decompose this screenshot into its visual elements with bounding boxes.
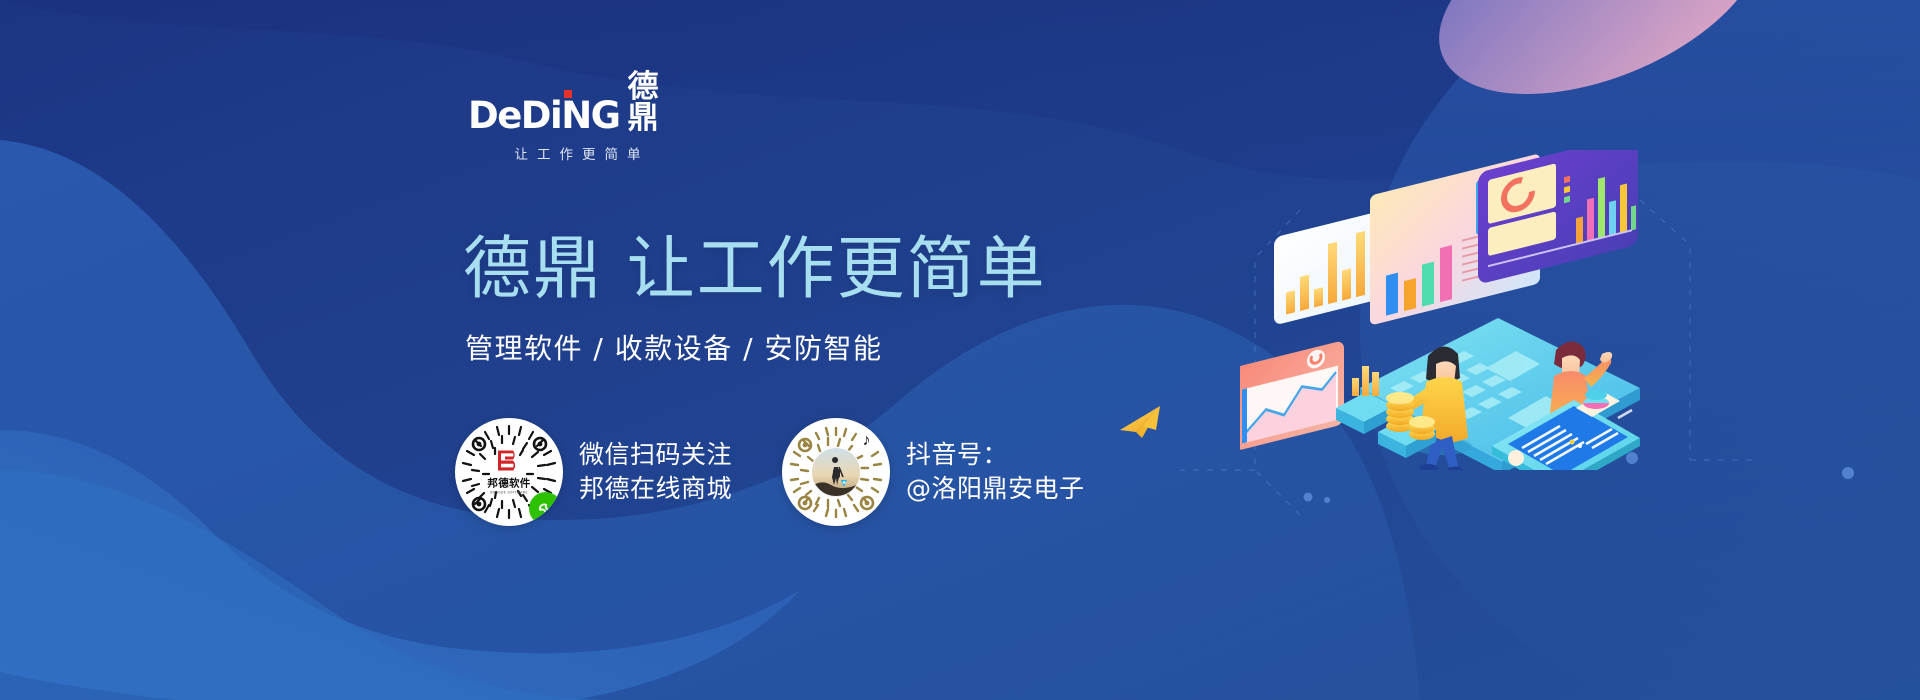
logo-tagline: 让工作更简单 [468,143,688,163]
isometric-analytics-illustration [1240,150,1660,470]
bangde-mark-icon [496,448,522,474]
logo-wordmark: DeDiNG 德鼎 [468,92,688,134]
avatar-photo [811,447,861,497]
paper-plane-icon [1116,400,1168,444]
music-note-icon: ♪ [855,429,878,452]
miniprogram-glyph [536,499,556,519]
douyin-avatar [811,447,861,497]
qr-code-group: 邦德软件 BANGDE SOFTWARE 微信扫码关注 邦德在线商城 [455,418,1085,526]
hero-subheadline: 管理软件 / 收款设备 / 安防智能 [465,327,882,367]
bangde-software-logo: 邦德软件 BANGDE SOFTWARE [483,448,535,495]
logo-chinese-text: 德鼎 [628,72,688,134]
logo-latin-text: DeDiNG [468,97,620,134]
bangde-logo-cn: 邦德软件 [483,476,535,491]
wechat-miniprogram-icon [529,492,562,525]
dashboard-panel-purple [1478,150,1638,285]
logo-red-dot-icon [564,90,572,98]
qr-item-douyin[interactable]: ♪ 抖音号： @洛阳鼎安电子 [782,418,1085,526]
douyin-qr-caption: 抖音号： @洛阳鼎安电子 [906,438,1085,507]
hero-headline: 德鼎 让工作更简单 [463,234,1047,305]
marketing-banner: DeDiNG 德鼎 让工作更简单 德鼎 让工作更简单 管理软件 / 收款设备 /… [0,0,1920,700]
wechat-qr-caption: 微信扫码关注 邦德在线商城 [579,438,732,507]
douyin-qr-code[interactable]: ♪ [782,418,890,526]
brand-logo[interactable]: DeDiNG 德鼎 让工作更简单 [468,92,688,163]
wechat-miniprogram-qr-code[interactable]: 邦德软件 BANGDE SOFTWARE [455,418,563,526]
qr-item-wechat-miniprogram[interactable]: 邦德软件 BANGDE SOFTWARE 微信扫码关注 邦德在线商城 [455,418,732,526]
dashboard-panel-red-linechart [1240,340,1344,451]
bangde-logo-en: BANGDE SOFTWARE [483,491,535,495]
